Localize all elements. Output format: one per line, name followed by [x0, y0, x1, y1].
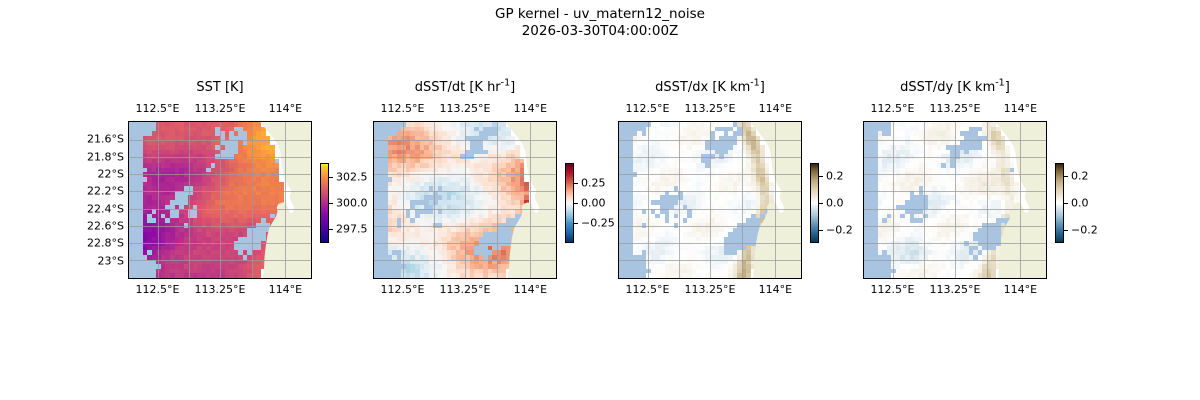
xtick-label: 113.25°E — [195, 283, 246, 296]
ytick-label: 22.4°S — [87, 202, 124, 215]
xtick-label: 114°E — [759, 283, 792, 296]
colorbar-tick-mark — [329, 229, 333, 230]
panel-title-exponent: -1 — [995, 78, 1004, 89]
gridlines-sst — [129, 122, 311, 278]
xtick-label: 113.25°E — [440, 102, 491, 115]
ytick-label: 22°S — [98, 167, 124, 180]
xtick-label: 112.5°E — [135, 283, 179, 296]
xtick-label: 112.5°E — [625, 283, 669, 296]
xtick-label: 114°E — [269, 102, 302, 115]
panel-title-text: dSST/dx [K km — [655, 80, 750, 95]
colorbar-gradient-dsst-dt — [565, 163, 574, 243]
xtick-label: 114°E — [269, 283, 302, 296]
colorbar-tick-mark — [819, 230, 823, 231]
ytick-label: 22.6°S — [87, 220, 124, 233]
panel-title-text: dSST/dy [K km — [900, 80, 995, 95]
colorbar-tick-label: −0.2 — [1071, 224, 1098, 237]
ytick-label: 21.6°S — [87, 133, 124, 146]
xtick-labels-top-sst: 112.5°E113.25°E114°E — [128, 102, 312, 116]
map-axes-dsst-dx[interactable] — [618, 121, 802, 279]
colorbar-tick-label: 0.0 — [1071, 197, 1089, 210]
colorbar-tick-mark — [574, 223, 578, 224]
panel-title-dsst-dy: dSST/dy [K km-1] — [827, 80, 1083, 96]
colorbar-tick-mark — [819, 176, 823, 177]
xtick-labels-bot-sst: 112.5°E113.25°E114°E — [128, 283, 312, 297]
colorbar-tick-label: 0.2 — [1071, 169, 1089, 182]
panel-title-dsst-dx: dSST/dx [K km-1] — [582, 80, 838, 96]
colorbar-tick-mark — [1064, 203, 1068, 204]
xtick-label: 114°E — [1004, 283, 1037, 296]
panel-title-sst: SST [K] — [92, 80, 348, 96]
gridlines-dsst-dx — [619, 122, 801, 278]
colorbar-dsst-dy: 0.20.0−0.2 — [1055, 163, 1125, 243]
xtick-label: 113.25°E — [440, 283, 491, 296]
panel-title-exponent: -1 — [750, 78, 759, 89]
ytick-label: 23°S — [98, 254, 124, 267]
xtick-labels-top-dsst-dy: 112.5°E113.25°E114°E — [863, 102, 1047, 116]
colorbar-tick-mark — [819, 203, 823, 204]
xtick-label: 113.25°E — [930, 102, 981, 115]
gridlines-dsst-dy — [864, 122, 1046, 278]
figure-canvas: GP kernel - uv_matern12_noise 2026-03-30… — [0, 0, 1200, 400]
panel-title-tail: ] — [760, 80, 765, 95]
xtick-label: 113.25°E — [930, 283, 981, 296]
xtick-label: 113.25°E — [195, 102, 246, 115]
colorbar-tick-mark — [1064, 230, 1068, 231]
xtick-label: 112.5°E — [625, 102, 669, 115]
panel-title-dsst-dt: dSST/dt [K hr-1] — [337, 80, 593, 96]
xtick-label: 112.5°E — [870, 283, 914, 296]
colorbar-tick-mark — [329, 203, 333, 204]
colorbar-tick-mark — [329, 177, 333, 178]
colorbar-gradient-dsst-dy — [1055, 163, 1064, 243]
xtick-label: 114°E — [759, 102, 792, 115]
xtick-label: 114°E — [514, 283, 547, 296]
xtick-labels-top-dsst-dx: 112.5°E113.25°E114°E — [618, 102, 802, 116]
panel-dsst-dy: dSST/dy [K km-1]112.5°E113.25°E114°E112.… — [827, 0, 1127, 400]
ytick-label: 22.8°S — [87, 237, 124, 250]
ytick-label: 22.2°S — [87, 185, 124, 198]
xtick-labels-bot-dsst-dy: 112.5°E113.25°E114°E — [863, 283, 1047, 297]
colorbar-gradient-sst — [320, 163, 329, 243]
map-axes-dsst-dt[interactable] — [373, 121, 557, 279]
xtick-label: 112.5°E — [380, 102, 424, 115]
colorbar-gradient-dsst-dx — [810, 163, 819, 243]
map-axes-dsst-dy[interactable] — [863, 121, 1047, 279]
xtick-label: 113.25°E — [685, 283, 736, 296]
xtick-label: 112.5°E — [135, 102, 179, 115]
colorbar-tick-mark — [574, 203, 578, 204]
xtick-labels-bot-dsst-dt: 112.5°E113.25°E114°E — [373, 283, 557, 297]
xtick-labels-top-dsst-dt: 112.5°E113.25°E114°E — [373, 102, 557, 116]
gridlines-dsst-dt — [374, 122, 556, 278]
panel-title-text: dSST/dt [K hr — [415, 80, 501, 95]
xtick-label: 112.5°E — [870, 102, 914, 115]
panel-title-tail: ] — [510, 80, 515, 95]
ytick-label: 21.8°S — [87, 150, 124, 163]
panel-title-exponent: -1 — [501, 78, 510, 89]
ytick-labels-sst: 21.6°S21.8°S22°S22.2°S22.4°S22.6°S22.8°S… — [92, 121, 124, 279]
panel-title-tail: ] — [1005, 80, 1010, 95]
xtick-labels-bot-dsst-dx: 112.5°E113.25°E114°E — [618, 283, 802, 297]
colorbar-tick-mark — [1064, 176, 1068, 177]
xtick-label: 114°E — [514, 102, 547, 115]
xtick-label: 113.25°E — [685, 102, 736, 115]
xtick-label: 114°E — [1004, 102, 1037, 115]
xtick-label: 112.5°E — [380, 283, 424, 296]
map-axes-sst[interactable] — [128, 121, 312, 279]
colorbar-tick-mark — [574, 183, 578, 184]
